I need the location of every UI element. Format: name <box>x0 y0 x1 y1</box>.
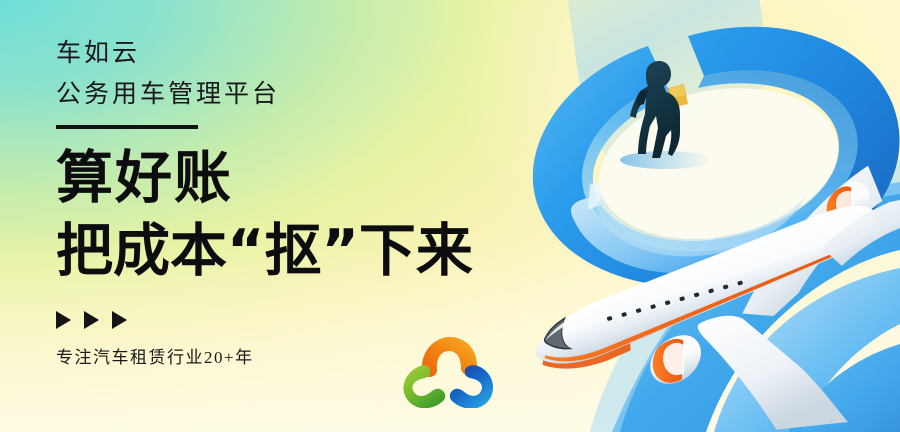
background-blue-swoosh <box>553 0 787 222</box>
headline-group: 算好账 把成本“抠”下来 <box>56 145 473 286</box>
arrow-right-icon-1 <box>56 311 71 329</box>
ribbon-bands <box>590 160 900 432</box>
mobius-ribbon-loop <box>533 27 900 287</box>
promo-banner: 车如云 公务用车管理平台 算好账 把成本“抠”下来 专注汽车租赁行业20+年 <box>0 0 900 432</box>
banner-text-block: 车如云 公务用车管理平台 算好账 把成本“抠”下来 专注汽车租赁行业20+年 <box>56 38 473 368</box>
arrow-bullets <box>56 311 473 329</box>
brand-name: 车如云 <box>56 38 473 69</box>
divider-rule <box>56 125 198 129</box>
walking-person-silhouette <box>620 61 712 169</box>
brand-subtitle: 公务用车管理平台 <box>56 79 473 110</box>
arrow-right-icon-3 <box>112 311 127 329</box>
logo-arc-blue <box>450 365 493 408</box>
arrow-right-icon-2 <box>84 311 99 329</box>
headline-line-2: 把成本“抠”下来 <box>56 218 473 285</box>
che-ru-yun-cloud-logo <box>398 328 496 408</box>
headline-line-1: 算好账 <box>56 145 473 212</box>
artwork-illustration <box>470 0 900 432</box>
airplane-illustration <box>523 166 900 432</box>
logo-arc-green <box>403 365 445 408</box>
